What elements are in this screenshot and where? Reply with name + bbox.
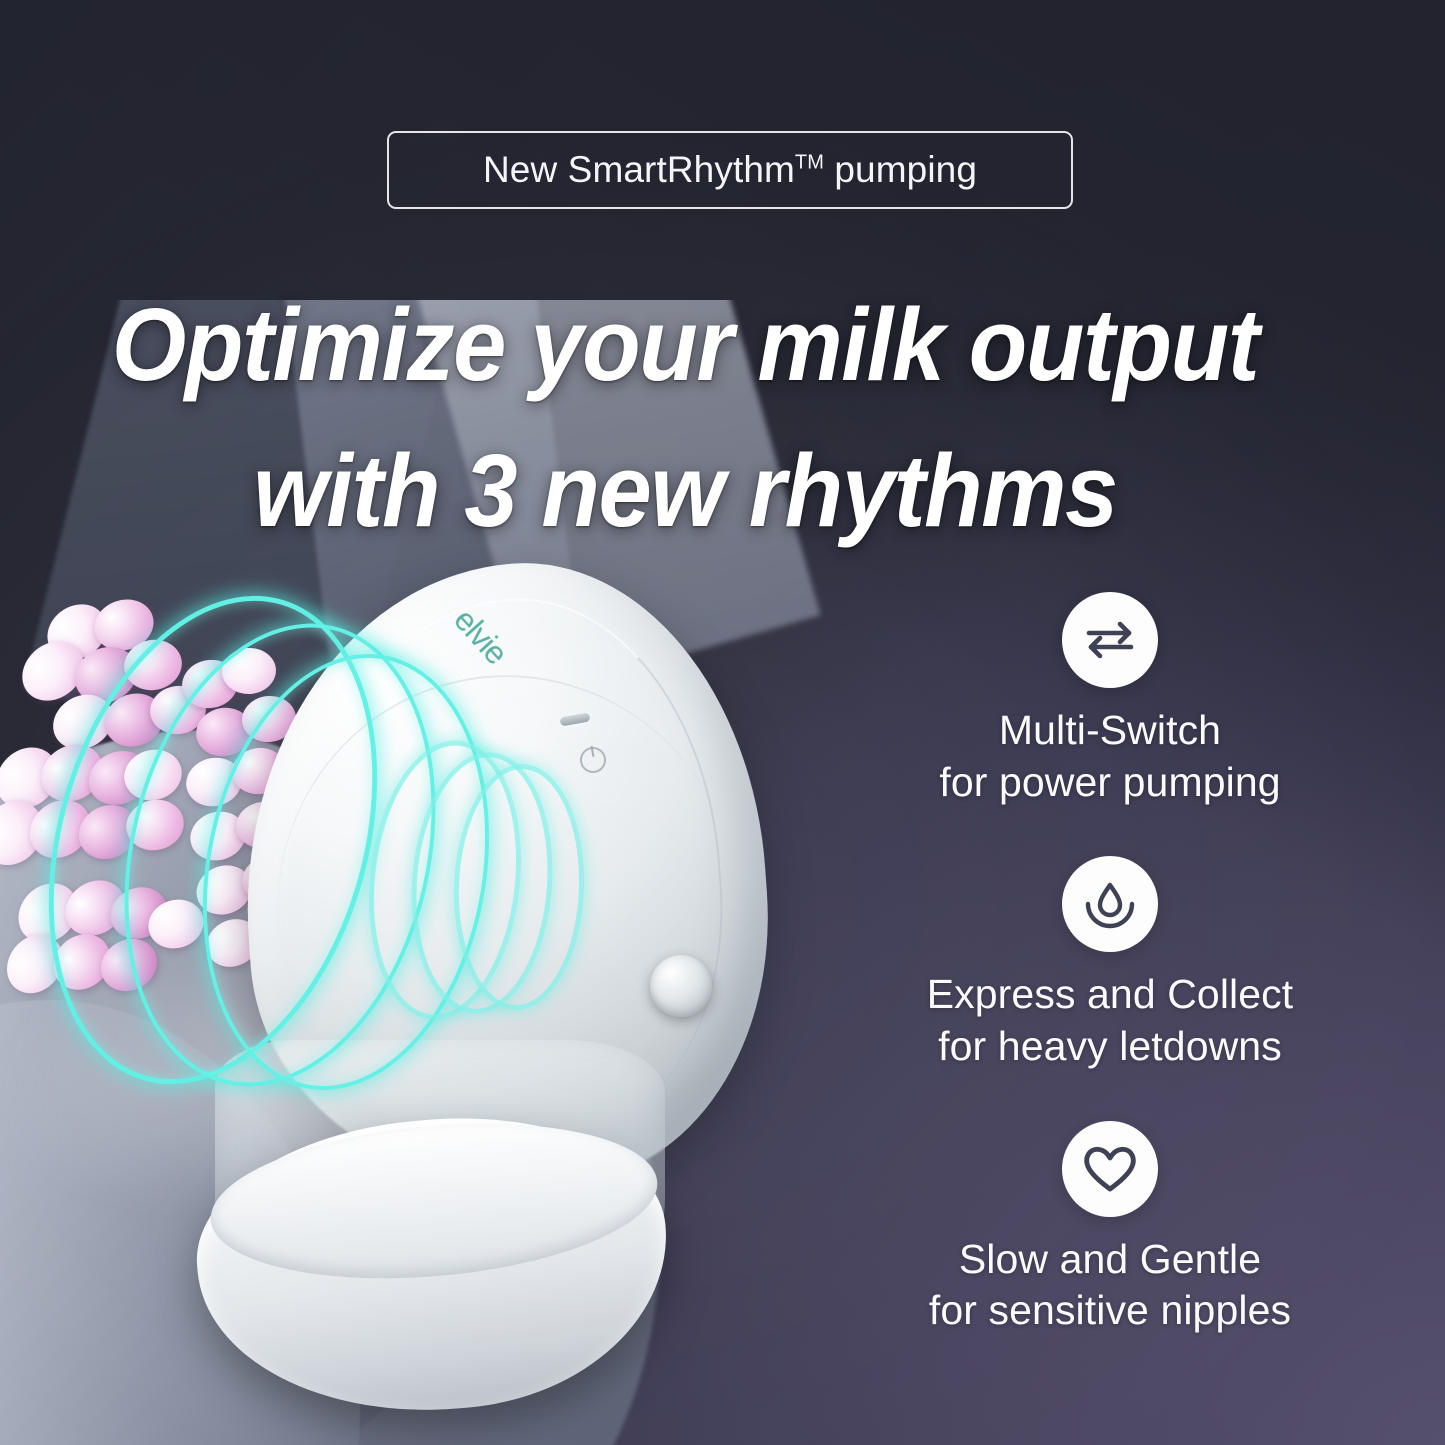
smartrhythm-badge: New SmartRhythmTM pumping [387,131,1073,209]
feature-line-2: for heavy letdowns [927,1021,1294,1073]
badge-label-suffix: pumping [824,149,977,190]
feature-line-1: Slow and Gentle [959,1236,1261,1282]
feature-multi-switch: Multi-Switch for power pumping [860,592,1360,808]
switch-arrows-icon [1062,592,1158,688]
feature-line-1: Multi-Switch [999,707,1221,753]
heart-icon [1062,1121,1158,1217]
trademark-symbol: TM [795,152,824,174]
feature-list: Multi-Switch for power pumping Express a… [860,592,1360,1337]
feature-slow-gentle: Slow and Gentle for sensitive nipples [860,1121,1360,1337]
feature-label-express-collect: Express and Collect for heavy letdowns [927,969,1294,1072]
headline: Optimize your milk output with 3 new rhy… [0,272,1370,565]
feature-line-1: Express and Collect [927,971,1294,1017]
feature-line-2: for power pumping [939,757,1280,809]
feature-express-collect: Express and Collect for heavy letdowns [860,856,1360,1072]
headline-line-1: Optimize your milk output [48,272,1322,418]
droplet-bowl-icon [1062,856,1158,952]
feature-label-multi-switch: Multi-Switch for power pumping [939,705,1280,808]
badge-label: New SmartRhythmTM pumping [483,149,977,191]
feature-label-slow-gentle: Slow and Gentle for sensitive nipples [929,1234,1291,1337]
headline-line-2: with 3 new rhythms [48,418,1322,564]
marketing-image: elvie 100 80 3 New SmartRhythmTM pumping… [0,0,1445,1445]
badge-label-text: New SmartRhythm [483,149,795,190]
feature-line-2: for sensitive nipples [929,1285,1291,1337]
